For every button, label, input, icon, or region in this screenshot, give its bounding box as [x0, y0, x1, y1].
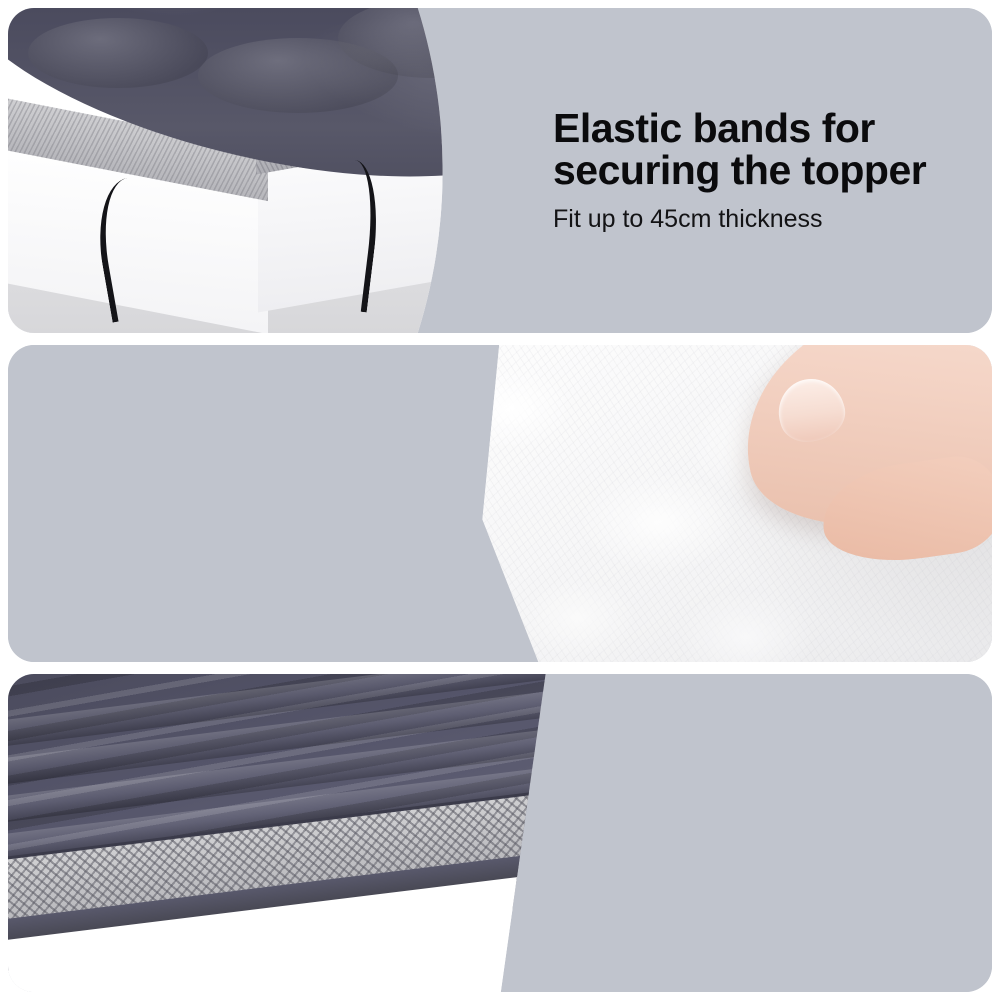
panel-elastic-bands: Elastic bands for securing the topper Fi… — [8, 8, 992, 333]
title-line-1: Elastic bands for — [553, 105, 875, 151]
panel-ultra-thick: Ultra thick Durable & long-lasting — [8, 674, 992, 992]
elastic-bands-copy: Elastic bands for securing the topper Fi… — [553, 108, 983, 233]
panel-microfibre-filling: Innovative microfibre filing Soft and co… — [8, 345, 992, 662]
quilted-slab-photo — [8, 674, 568, 992]
title-line-2: securing the topper — [553, 147, 926, 193]
elastic-bands-subtitle: Fit up to 45cm thickness — [553, 205, 983, 234]
product-feature-infographic: Elastic bands for securing the topper Fi… — [0, 0, 1000, 1000]
elastic-bands-title: Elastic bands for securing the topper — [553, 108, 983, 192]
topper-puff — [28, 18, 208, 88]
